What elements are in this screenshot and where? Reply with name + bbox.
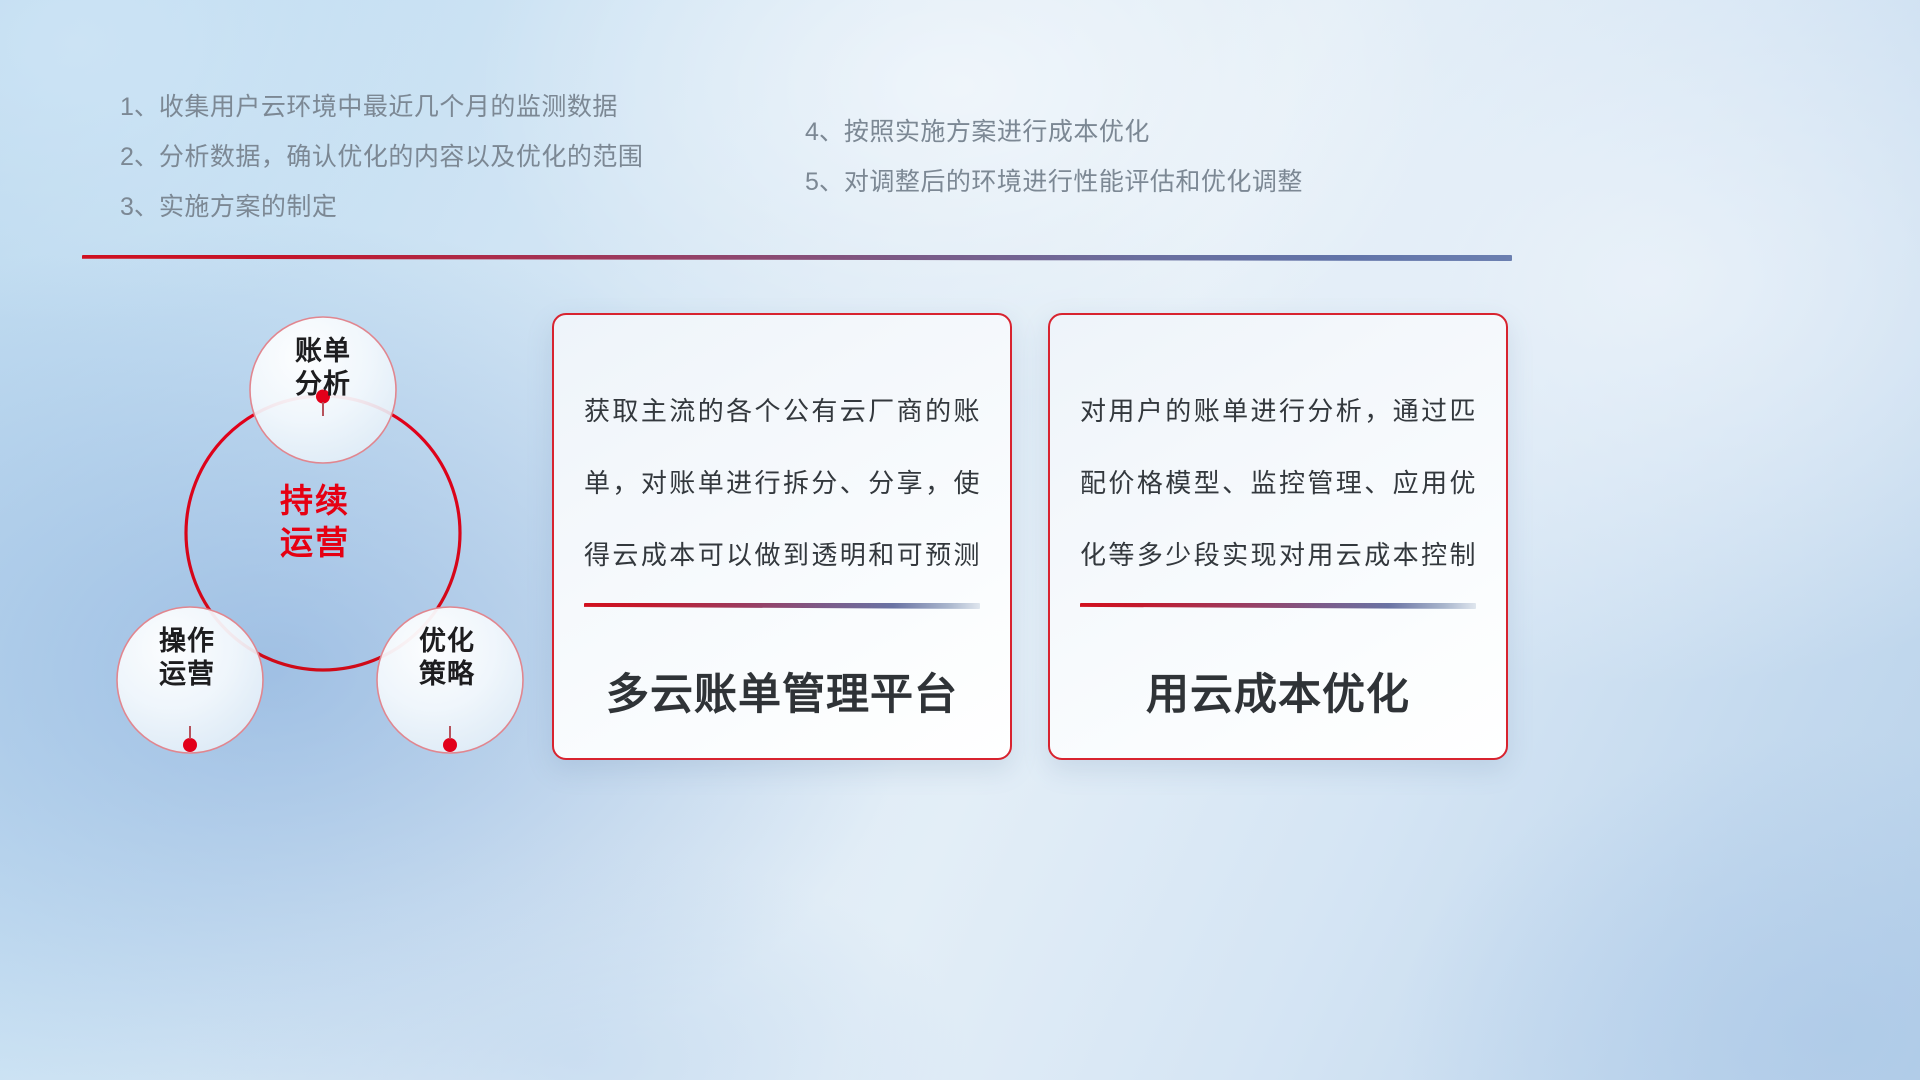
venn-center-label-line1: 持续 xyxy=(240,480,390,522)
list-item-number: 2、 xyxy=(120,143,159,171)
venn-label-br-line1: 优化 xyxy=(392,625,502,658)
venn-label-br-line2: 策略 xyxy=(392,658,502,691)
list-item-number: 4、 xyxy=(805,118,844,146)
venn-label-bottom-left: 操作 运营 xyxy=(132,625,242,691)
list-item-label: 对调整后的环境进行性能评估和优化调整 xyxy=(844,168,1303,196)
venn-label-bl-line1: 操作 xyxy=(132,625,242,658)
venn-label-bl-line2: 运营 xyxy=(132,658,242,691)
list-item: 3、实施方案的制定 xyxy=(120,195,643,220)
venn-label-top: 账单 分析 xyxy=(268,335,378,401)
venn-diagram: 账单 分析 操作 运营 优化 策略 持续 运营 xyxy=(90,290,540,770)
venn-label-bottom-right: 优化 策略 xyxy=(392,625,502,691)
list-item: 2、分析数据，确认优化的内容以及优化的范围 xyxy=(120,145,643,170)
card-divider-rule xyxy=(584,603,980,609)
card-divider-rule xyxy=(1080,603,1476,609)
list-item-label: 按照实施方案进行成本优化 xyxy=(844,118,1150,146)
list-item-number: 3、 xyxy=(120,193,159,221)
list-item-number: 1、 xyxy=(120,93,159,121)
venn-label-top-line1: 账单 xyxy=(268,335,378,368)
card-title: 用云成本优化 xyxy=(1050,660,1506,722)
venn-node-dot-bottom-left xyxy=(183,738,197,752)
list-item-number: 5、 xyxy=(805,168,844,196)
venn-node-dot-bottom-right xyxy=(443,738,457,752)
card-body-text: 获取主流的各个公有云厂商的账单，对账单进行拆分、分享，使得云成本可以做到透明和可… xyxy=(584,375,980,591)
list-item: 4、按照实施方案进行成本优化 xyxy=(805,120,1303,145)
steps-list-left: 1、收集用户云环境中最近几个月的监测数据 2、分析数据，确认优化的内容以及优化的… xyxy=(120,95,643,245)
venn-label-top-line2: 分析 xyxy=(268,368,378,401)
card-title: 多云账单管理平台 xyxy=(554,660,1010,722)
card-body-text: 对用户的账单进行分析，通过匹配价格模型、监控管理、应用优化等多少段实现对用云成本… xyxy=(1080,375,1476,591)
feature-card-cost-optimization[interactable]: 对用户的账单进行分析，通过匹配价格模型、监控管理、应用优化等多少段实现对用云成本… xyxy=(1048,313,1508,760)
venn-center-label: 持续 运营 xyxy=(240,480,390,564)
list-item-label: 实施方案的制定 xyxy=(159,193,338,221)
list-item: 1、收集用户云环境中最近几个月的监测数据 xyxy=(120,95,643,120)
steps-list-right: 4、按照实施方案进行成本优化 5、对调整后的环境进行性能评估和优化调整 xyxy=(805,120,1303,220)
feature-card-multicloud-billing[interactable]: 获取主流的各个公有云厂商的账单，对账单进行拆分、分享，使得云成本可以做到透明和可… xyxy=(552,313,1012,760)
list-item-label: 收集用户云环境中最近几个月的监测数据 xyxy=(159,93,618,121)
list-item-label: 分析数据，确认优化的内容以及优化的范围 xyxy=(159,143,644,171)
list-item: 5、对调整后的环境进行性能评估和优化调整 xyxy=(805,170,1303,195)
venn-center-label-line2: 运营 xyxy=(240,522,390,564)
